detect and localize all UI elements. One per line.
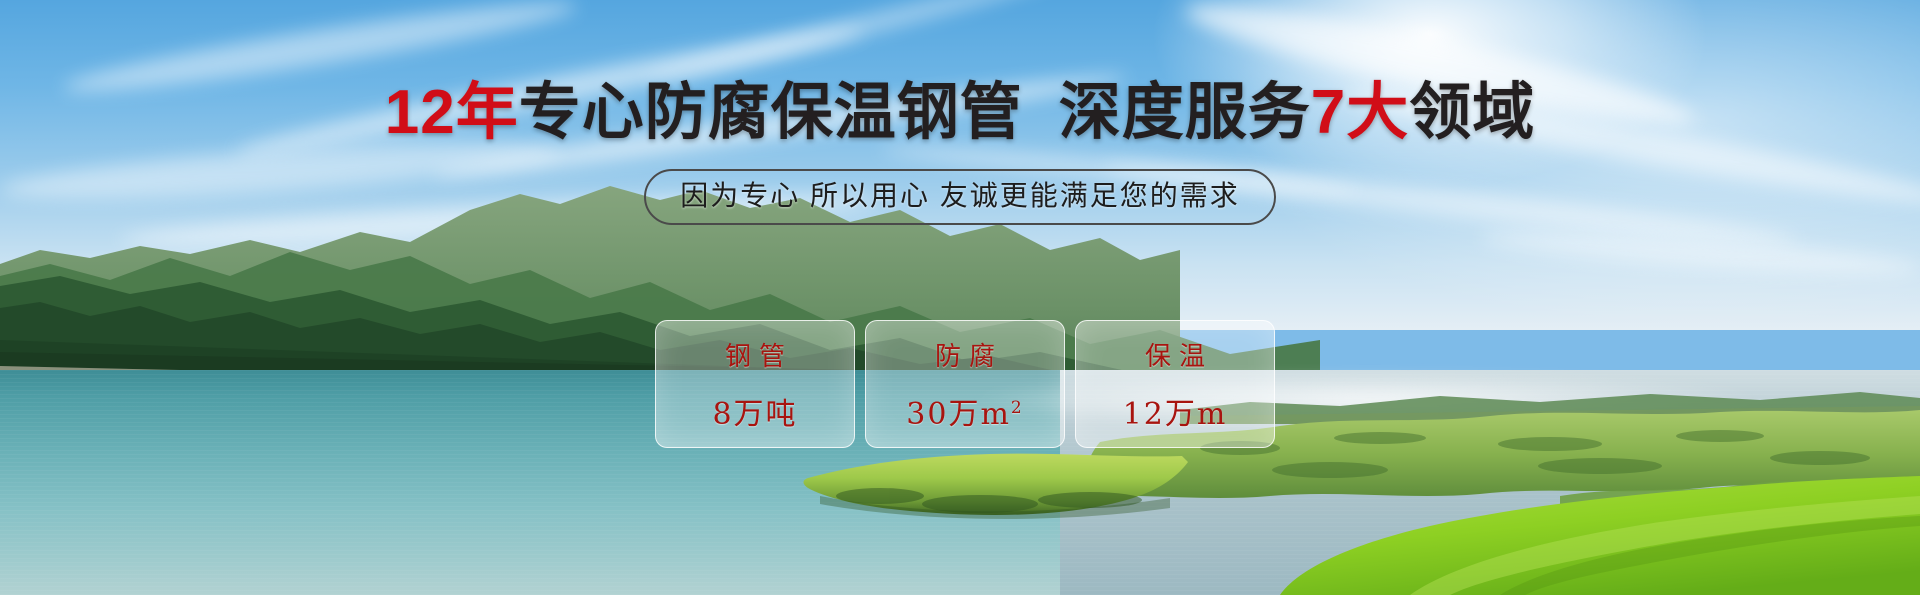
stat-card-anticorrosion[interactable]: 防腐 30万m2 [865, 320, 1065, 448]
headline-fields: 领域 [1409, 78, 1535, 147]
headline-big: 大 [1346, 78, 1409, 147]
stat-card-insulation[interactable]: 保温 12万m [1075, 320, 1275, 448]
subtitle-container: 因为专心 所以用心 友诚更能满足您的需求 [0, 169, 1920, 225]
headline-main: 专心防腐保温钢管 [519, 78, 1023, 147]
stat-value-base: 30万m [906, 397, 1011, 432]
headline: 12年专心防腐保温钢管深度服务7大领域 [0, 82, 1920, 144]
stat-value-base: 8万吨 [712, 397, 797, 432]
sky-background [0, 0, 1920, 330]
headline-years-unit: 年 [456, 78, 519, 147]
stat-label: 保温 [1137, 336, 1213, 373]
cloud-streak [1480, 225, 1920, 282]
stat-card-group: 钢管 8万吨 防腐 30万m2 保温 12万m [655, 320, 1275, 448]
headline-seven: 7 [1311, 78, 1346, 147]
stat-label: 防腐 [927, 336, 1003, 373]
stat-value: 12万m [1123, 389, 1228, 433]
stat-value-base: 12万m [1123, 397, 1228, 432]
headline-service: 深度服务 [1059, 78, 1311, 147]
headline-years-number: 12 [385, 78, 456, 147]
cloud-streak [30, 245, 631, 294]
stat-value: 30万m2 [906, 389, 1023, 433]
cloud-streak [644, 0, 1056, 89]
hero-banner: 12年专心防腐保温钢管深度服务7大领域 因为专心 所以用心 友诚更能满足您的需求… [0, 0, 1920, 595]
subtitle-pill: 因为专心 所以用心 友诚更能满足您的需求 [644, 169, 1276, 225]
stat-value: 8万吨 [712, 389, 797, 433]
stat-label: 钢管 [717, 336, 793, 373]
stat-card-steel-pipe[interactable]: 钢管 8万吨 [655, 320, 855, 448]
stat-value-superscript: 2 [1011, 398, 1024, 418]
